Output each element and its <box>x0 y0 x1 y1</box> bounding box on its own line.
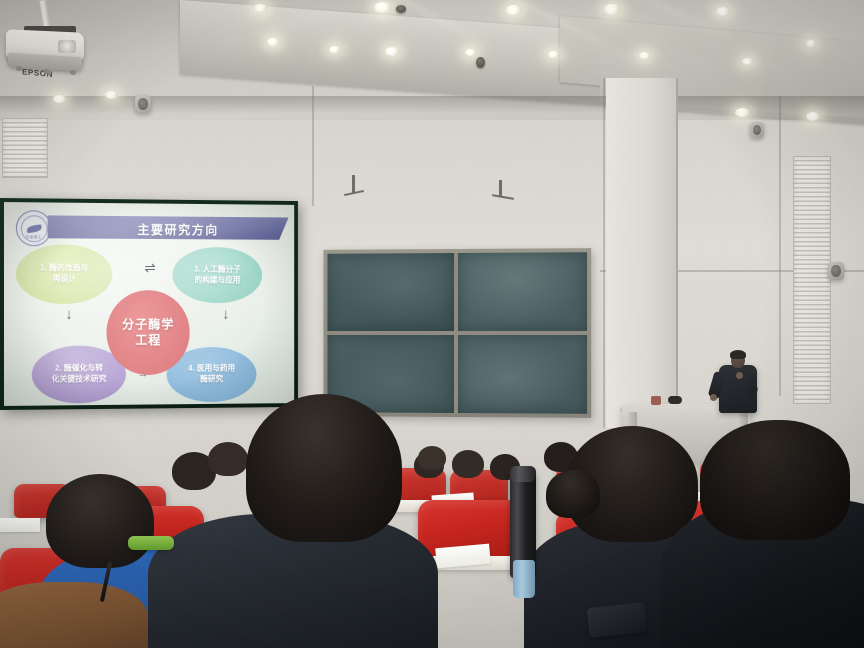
slide-node-1: 1. 酶的改造与 再设计 <box>16 244 112 304</box>
slide-node-3-line1: 3. 人工酶分子 <box>194 265 241 275</box>
podium-object-cup <box>651 396 661 405</box>
chalkboard-panel <box>458 252 587 331</box>
ceiling-downlight <box>716 7 730 16</box>
audience-head <box>546 470 600 518</box>
slide-node-1-line1: 1. 酶的改造与 <box>40 264 88 275</box>
ceiling-downlight <box>53 95 66 103</box>
audience-head <box>418 446 446 470</box>
lecturer-hair <box>730 350 746 359</box>
smartphone <box>587 602 648 638</box>
slide-node-1-line2: 再设计 <box>53 274 77 285</box>
wall-hook <box>499 180 502 196</box>
lecture-hall-photo: EPSON <box>0 0 864 648</box>
wall-pillar <box>606 78 678 428</box>
ceiling-downlight <box>639 52 650 59</box>
chalkboard-panel <box>458 335 587 414</box>
slide-node-3: 3. 人工酶分子 的构建与应用 <box>172 247 262 303</box>
projector-lens <box>58 40 76 53</box>
slide-node-4-line1: 4. 医用与药用 <box>188 364 235 375</box>
equilibrium-arrow-icon: ⇌ <box>144 261 155 275</box>
audience-head <box>700 420 850 540</box>
pencil-case <box>128 536 174 550</box>
ceiling-downlight <box>465 49 476 56</box>
emblem-mark <box>26 224 42 233</box>
ceiling-downlight <box>105 91 118 99</box>
audience-head <box>208 442 248 476</box>
down-arrow-right-icon: ↓ <box>222 307 229 322</box>
slide-center-line1: 分子酶学 <box>122 316 174 332</box>
wall-seam-vertical <box>312 86 314 206</box>
paper-sheet <box>0 518 40 532</box>
slide-node-4-line2: 酶研究 <box>200 374 223 385</box>
wall-speaker-center <box>750 122 764 138</box>
louvered-vent-right <box>793 156 831 404</box>
lecturer-hand <box>736 372 743 379</box>
ceiling-downlight <box>329 46 340 53</box>
audience-head <box>452 450 484 478</box>
wall-seam-vertical <box>603 78 605 428</box>
slide-center-node: 分子酶学 工程 <box>106 290 189 375</box>
ceiling-downlight <box>548 51 559 58</box>
ceiling-downlight <box>806 112 820 121</box>
wall-hook <box>352 175 355 193</box>
projector-foot <box>70 70 76 75</box>
slide-node-2-line2: 化关键技术研究 <box>52 374 107 385</box>
down-arrow-left-icon: ↓ <box>65 307 72 322</box>
sprinkler-head <box>396 5 406 13</box>
university-emblem-icon: 华南理工 <box>16 210 52 246</box>
audience-torso <box>0 582 148 648</box>
louvered-vent-left <box>2 118 48 178</box>
wall-seam-vertical <box>779 96 781 396</box>
ceiling-downlight <box>254 4 267 12</box>
ceiling-downlight <box>506 5 521 15</box>
ceiling-downlight <box>267 38 279 46</box>
ceiling-downlight <box>604 4 620 15</box>
audience-head <box>246 394 402 542</box>
slide-node-3-line2: 的构建与应用 <box>194 275 240 285</box>
projector-foot <box>44 69 50 74</box>
wall-speaker-left <box>135 95 151 113</box>
slide-title: 主要研究方向 <box>91 219 264 239</box>
chalkboard-panels <box>327 252 587 414</box>
slide-center-line2: 工程 <box>135 333 161 349</box>
emblem-subtext: 华南理工 <box>17 235 51 240</box>
lecturer-hand <box>710 394 717 401</box>
audience-head <box>46 474 154 568</box>
ceiling-downlight <box>735 108 750 117</box>
chalkboard <box>324 248 592 418</box>
presentation-slide: 华南理工 主要研究方向 1. 酶的改造与 再设计 3. 人工酶分子 的构建与应用… <box>4 202 294 406</box>
pillar-edge <box>676 78 678 428</box>
chalkboard-panel <box>327 253 454 331</box>
projector-foot <box>16 66 22 71</box>
projection-screen: 华南理工 主要研究方向 1. 酶的改造与 再设计 3. 人工酶分子 的构建与应用… <box>0 198 298 410</box>
ceiling-downlight <box>374 2 391 13</box>
sprinkler-head <box>476 57 485 68</box>
thermos-cap <box>510 466 536 482</box>
ceiling-downlight <box>806 40 816 47</box>
podium-object-dark <box>668 396 682 404</box>
ceiling-downlight <box>742 58 753 65</box>
slide-node-2-line1: 2. 酶催化与转 <box>55 364 103 375</box>
ceiling-downlight <box>385 47 399 56</box>
thermos-body-blue <box>513 560 535 598</box>
wall-speaker-right <box>828 262 844 280</box>
